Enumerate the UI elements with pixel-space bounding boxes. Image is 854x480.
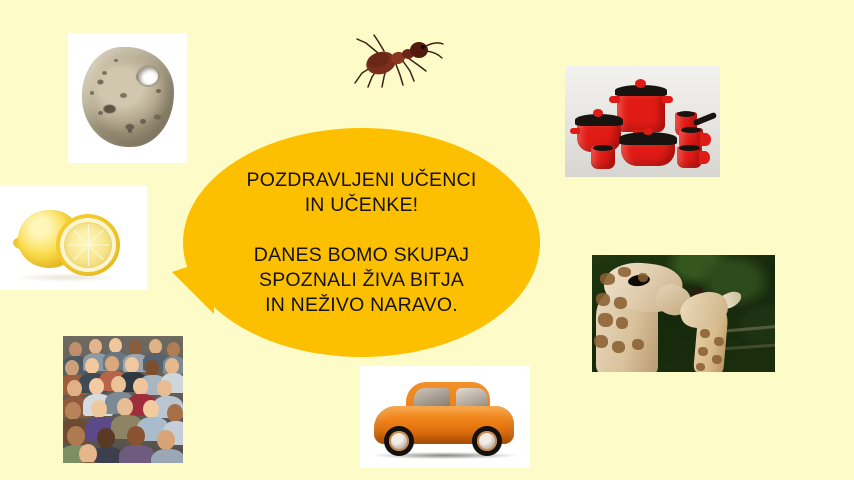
lemon-pith [60, 218, 116, 272]
lemon-segment-line [89, 245, 110, 246]
porous-rock-photo[interactable] [68, 33, 187, 163]
rock-pit [102, 71, 107, 75]
rock-pit [140, 119, 146, 124]
lemon-segment-line [88, 245, 104, 261]
rock-pit [114, 59, 118, 62]
orange-car-photo[interactable] [360, 366, 530, 468]
rock-pit [90, 91, 94, 95]
calf-spot [712, 355, 722, 364]
large-pot-knob [635, 79, 646, 88]
ant-icon [348, 33, 444, 89]
rock-pit [156, 89, 161, 93]
rock-hole [138, 67, 158, 85]
lesson-line-2: SPOZNALI ŽIVA BITJA [254, 268, 469, 293]
giraffe-spot [618, 267, 631, 277]
milk-pot-rim [677, 111, 695, 117]
crowd-of-people-photo[interactable] [63, 336, 183, 463]
giraffe-spot [598, 313, 613, 327]
car-front-wheel [384, 426, 414, 456]
lemon-shadow [14, 273, 120, 282]
calf-spot [698, 347, 708, 356]
greeting-paragraph: POZDRAVLJENI UČENCI IN UČENKE! [247, 168, 477, 218]
halved-lemon [56, 214, 120, 276]
speech-bubble-text: POZDRAVLJENI UČENCI IN UČENKE! DANES BOM… [183, 128, 540, 357]
lesson-intro-paragraph: DANES BOMO SKUPAJ SPOZNALI ŽIVA BITJA IN… [254, 243, 469, 318]
lemon-segment-line [73, 230, 89, 246]
giraffe-spot [614, 297, 627, 309]
lesson-line-3: IN NEŽIVO NARAVO. [254, 293, 469, 318]
greeting-line-1: POZDRAVLJENI UČENCI [247, 168, 477, 193]
saucepan-knob [593, 109, 603, 117]
large-pot-handle [609, 96, 620, 103]
giraffe-spot [612, 341, 625, 353]
lemon-segment-line [73, 245, 89, 261]
giraffes-photo[interactable] [592, 255, 775, 372]
giraffe-spot [594, 335, 608, 348]
lemon-segment-line [67, 245, 88, 246]
rock-pit [98, 111, 103, 115]
car-rear-wheel [472, 426, 502, 456]
giraffe-spot [596, 293, 610, 306]
greeting-line-2: IN UČENKE! [247, 193, 477, 218]
giraffe-spot [638, 273, 648, 282]
wheel-hubcap [389, 431, 409, 451]
giraffe-spot [600, 273, 615, 285]
calf-spot [714, 337, 724, 346]
slide-canvas: POZDRAVLJENI UČENCI IN UČENKE! DANES BOM… [0, 0, 854, 480]
giraffe-spot [616, 317, 628, 329]
mug-rim [593, 145, 613, 151]
red-cookware-photo[interactable] [565, 66, 720, 177]
rock-pit [128, 129, 132, 133]
mug-handle [699, 151, 710, 164]
calf-spot [696, 363, 705, 371]
large-pot-handle [662, 96, 673, 103]
speech-bubble[interactable]: POZDRAVLJENI UČENCI IN UČENKE! DANES BOM… [183, 128, 540, 357]
giraffe-spot [632, 339, 644, 350]
lemon-photo[interactable] [0, 186, 147, 290]
calf-spot [700, 329, 710, 338]
lesson-line-1: DANES BOMO SKUPAJ [254, 243, 469, 268]
large-pot [617, 92, 665, 132]
lemon-flesh [64, 222, 112, 268]
ant-photo[interactable] [348, 33, 444, 89]
rock-scene [68, 33, 187, 163]
wheel-hubcap [477, 431, 497, 451]
shallow-pan-knob [643, 128, 653, 135]
saucepan-handle [570, 128, 580, 134]
lemon-segment-line [88, 230, 104, 246]
mug-handle [700, 133, 711, 146]
rock-pit [120, 93, 127, 98]
lemon-segment-line [88, 245, 89, 266]
mug-rim [681, 127, 701, 133]
lemon-segment-line [88, 224, 89, 245]
mug-rim [679, 145, 700, 151]
